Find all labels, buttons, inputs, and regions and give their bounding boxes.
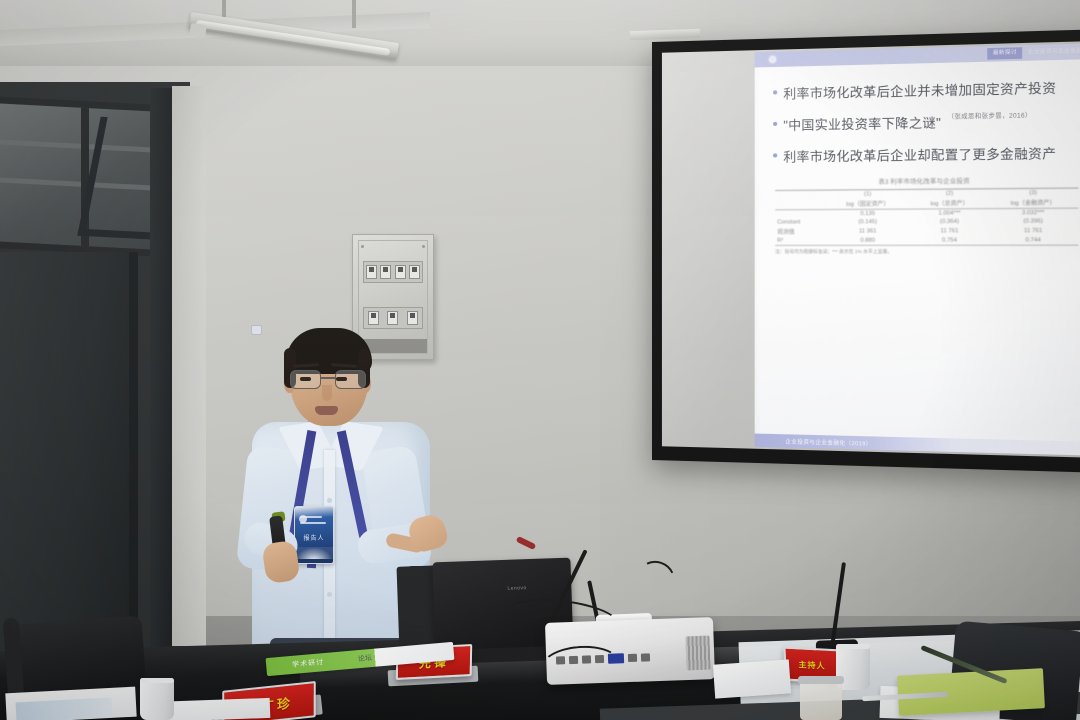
bullet-dot-icon: [773, 122, 777, 126]
slide-nav-dot-icon: [769, 56, 776, 63]
badge-text-line: [300, 522, 326, 524]
chair-left[interactable]: [14, 616, 147, 697]
row-cell: 0.880: [825, 237, 911, 246]
panel-screw: [422, 245, 425, 248]
bullet-text: 利率市场化改革后企业并未增加固定资产投资: [783, 77, 1056, 102]
shirt-button: [327, 498, 332, 503]
breaker-switch[interactable]: [407, 311, 418, 325]
banner-left-text: 学术研讨: [292, 657, 325, 670]
table-body: 0.135 1.004*** 3.032*** Constant (0.145)…: [775, 208, 1078, 245]
projector-port[interactable]: [641, 653, 650, 661]
badge-name-text: 报告人: [295, 533, 333, 542]
cup-rim: [836, 644, 870, 649]
row-cell: (0.145): [825, 218, 911, 227]
badge-clip: [251, 325, 262, 335]
row-cell: 11 761: [911, 226, 988, 237]
row-cell: 11 761: [988, 226, 1078, 237]
document-sheet: [713, 659, 791, 698]
row-cell: 3.032***: [988, 208, 1078, 217]
panel-screw: [361, 245, 364, 248]
bullet-text: 利率市场化改革后企业却配置了更多金融资产: [783, 142, 1056, 165]
row-cell: (0.364): [911, 218, 988, 227]
row-cell: 0.754: [911, 236, 988, 245]
slide-bullet: "中国实业投资率下降之谜" （张成思和张步昙，2016）: [773, 109, 1080, 134]
breaker-row[interactable]: [363, 261, 423, 283]
slide-body: 利率市场化改革后企业并未增加固定资产投资 "中国实业投资率下降之谜" （张成思和…: [755, 59, 1080, 442]
slide-table-block: 表3 利率市场化改革与企业投资 (1) (2) (3): [773, 175, 1080, 256]
bullet-citation: （张成思和张步昙，2016）: [948, 110, 1032, 121]
breaker-switch[interactable]: [409, 265, 420, 279]
row-cell: 11 361: [825, 226, 911, 237]
paper-cup: [140, 678, 174, 720]
table-sub-2: log（总资产）: [911, 198, 988, 209]
breaker-row[interactable]: [363, 307, 423, 329]
jar-lid: [798, 676, 844, 684]
row-label: Constant: [775, 218, 825, 226]
row-label: R²: [775, 237, 825, 246]
row-cell: (0.396): [988, 217, 1078, 226]
mouth: [315, 406, 338, 415]
screen-surface: 最新探讨 企业投资与企业金融化 利率市场化改革后企业并未增加固定资产投资 "中国…: [662, 41, 1080, 458]
table-sub-0: [775, 199, 825, 210]
door-jamb: [150, 88, 172, 720]
bullet-text: "中国实业投资率下降之谜": [783, 112, 941, 134]
slide-footer-text: 企业投资与企业金融化（2019）: [785, 437, 871, 447]
glasses-bridge: [321, 377, 335, 379]
breaker-switch[interactable]: [368, 311, 379, 325]
notepad: [897, 668, 1045, 716]
table-row: 观测值 11 361 11 761 11 761: [775, 226, 1078, 237]
laptop-brand-logo: Lenovo: [507, 585, 527, 592]
light-suspension-rod: [352, 0, 356, 28]
breaker-switch[interactable]: [387, 311, 398, 325]
eye-right: [336, 377, 347, 381]
slide-bullet: 利率市场化改革后企业却配置了更多金融资产: [773, 142, 1080, 166]
light-suspension-rod: [222, 0, 226, 18]
breaker-switch[interactable]: [366, 265, 377, 279]
wall-strip: [172, 86, 206, 646]
table-sub-1: log（固定资产）: [825, 198, 911, 209]
shirt-button: [327, 592, 332, 597]
conference-badge: 报告人: [294, 506, 334, 564]
badge-graphic: [295, 547, 333, 559]
slide-bullet: 利率市场化改革后企业并未增加固定资产投资: [773, 76, 1080, 102]
row-cell: 1.004***: [911, 209, 988, 218]
breaker-switch[interactable]: [395, 265, 406, 279]
row-cell: 0.135: [825, 209, 911, 218]
document-blue: [16, 698, 113, 720]
slide-tab-active: 最新探讨: [987, 47, 1022, 59]
projected-slide: 最新探讨 企业投资与企业金融化 利率市场化改革后企业并未增加固定资产投资 "中国…: [755, 43, 1080, 455]
projection-screen: 最新探讨 企业投资与企业金融化 利率市场化改革后企业并未增加固定资产投资 "中国…: [652, 29, 1080, 473]
eye-left: [300, 377, 311, 381]
bullet-dot-icon: [773, 153, 777, 157]
projector-port[interactable]: [628, 654, 637, 662]
slide-bullet-list: 利率市场化改革后企业并未增加固定资产投资 "中国实业投资率下降之谜" （张成思和…: [773, 76, 1080, 165]
table-sub-3: log（金融资产）: [988, 197, 1078, 209]
banner-right-text: 论坛: [358, 653, 373, 664]
bullet-dot-icon: [773, 90, 777, 94]
row-label: [775, 210, 825, 219]
light-end-cap: [189, 23, 207, 38]
table-col-0: [775, 190, 825, 199]
conference-room-photo: 最新探讨 企业投资与企业金融化 利率市场化改革后企业并未增加固定资产投资 "中国…: [0, 0, 1080, 720]
glass-jar: [800, 680, 842, 720]
cup-rim: [140, 678, 174, 683]
table-title: 表3 利率市场化改革与企业投资: [775, 175, 1078, 187]
nose: [322, 385, 332, 401]
table-row: R² 0.880 0.754 0.744: [775, 236, 1078, 245]
breaker-switch[interactable]: [380, 265, 391, 279]
regression-table: (1) (2) (3) log（固定资产） log（总资产） log（金融资产）: [775, 188, 1078, 246]
table-note: 注：括号内为稳健标准误；*** 表示在 1% 水平上显著。: [775, 249, 1078, 256]
row-cell: 0.744: [988, 236, 1078, 245]
slide-tab-secondary: 企业投资与企业金融化: [1022, 45, 1080, 58]
row-label: 观测值: [775, 226, 825, 236]
